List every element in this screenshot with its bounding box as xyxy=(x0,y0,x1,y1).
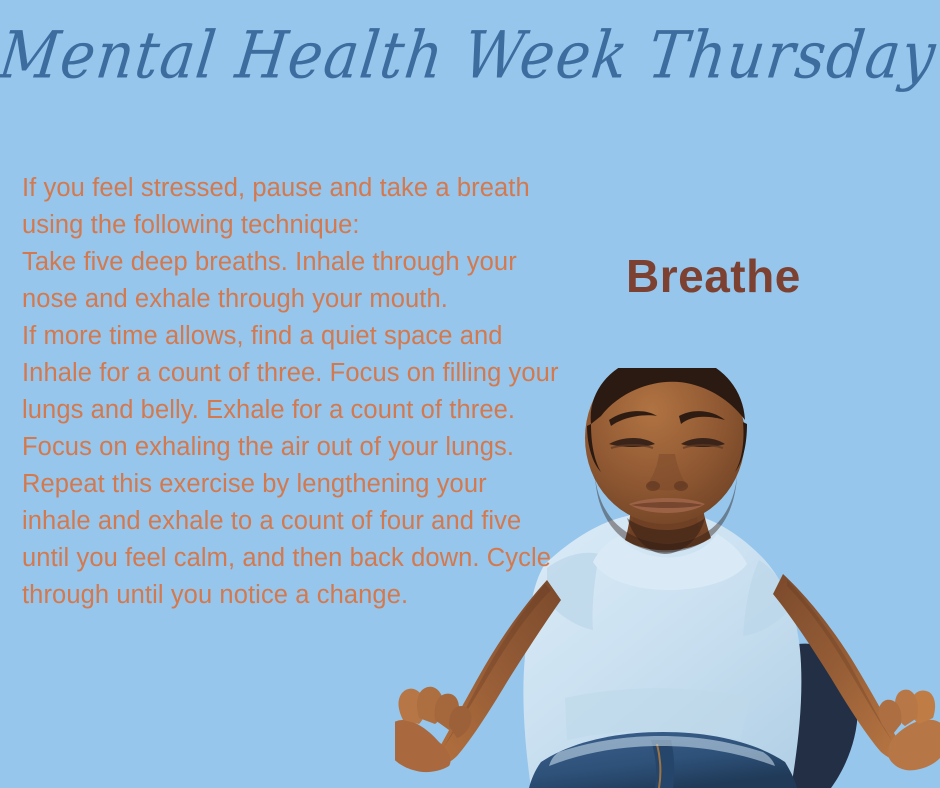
poster-canvas: Mental Health Week Thursday Tip xyxy=(0,0,940,788)
breathe-callout: Breathe xyxy=(626,249,801,303)
paragraph-4: Repeat this exercise by lengthening your… xyxy=(22,466,562,614)
nostril-left xyxy=(646,481,660,491)
paragraph-3: If more time allows, find a quiet space … xyxy=(22,318,562,466)
page-title: Mental Health Week Thursday Tip xyxy=(0,22,940,88)
paragraph-1: If you feel stressed, pause and take a b… xyxy=(22,170,562,244)
hand-left xyxy=(395,720,451,772)
title-container: Mental Health Week Thursday Tip xyxy=(0,26,940,85)
nostril-right xyxy=(674,481,688,491)
body-copy: If you feel stressed, pause and take a b… xyxy=(22,170,562,614)
paragraph-2: Take five deep breaths. Inhale through y… xyxy=(22,244,562,318)
